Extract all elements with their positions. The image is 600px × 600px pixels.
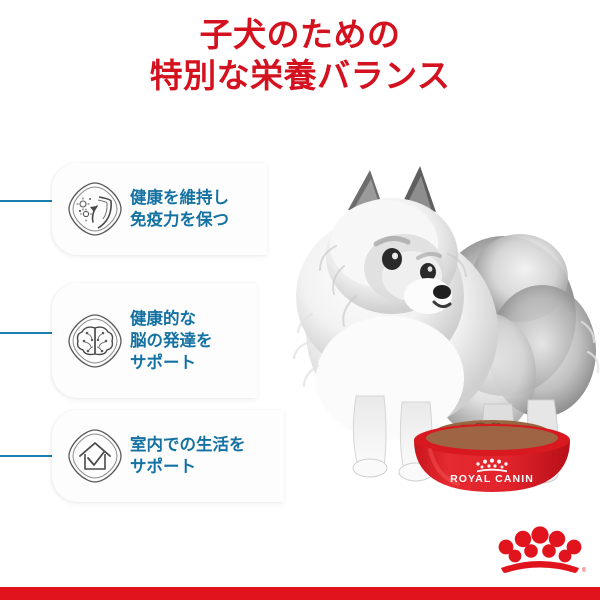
feature-2-line-1: 健康的な: [130, 308, 213, 330]
title-line-1: 子犬のための: [0, 14, 600, 55]
bottom-accent-bar: [0, 587, 600, 600]
feature-1-line-2: 免疫力を保つ: [130, 209, 229, 231]
feature-card-indoor[interactable]: 室内での生活を サポート: [52, 410, 284, 502]
page-title: 子犬のための 特別な栄養バランス: [0, 14, 600, 96]
connector-line-1: [0, 200, 54, 202]
food-bowl: ROYAL CANIN: [404, 414, 580, 500]
registered-mark: ®: [582, 567, 586, 574]
bowl-brand-label: ROYAL CANIN: [450, 473, 534, 485]
royal-canin-crown-icon: ®: [494, 519, 586, 575]
feature-2-line-2: 脳の発達を: [130, 330, 213, 352]
feature-2-line-3: サポート: [130, 352, 213, 374]
shield-immunity-icon: [66, 180, 124, 238]
feature-3-line-2: サポート: [130, 456, 246, 478]
brain-icon: [66, 312, 124, 370]
feature-3-line-1: 室内での生活を: [130, 434, 246, 456]
feature-label-immunity: 健康を維持し 免疫力を保つ: [130, 187, 229, 231]
feature-label-brain: 健康的な 脳の発達を サポート: [130, 308, 213, 374]
feature-card-brain[interactable]: 健康的な 脳の発達を サポート: [52, 283, 257, 398]
title-line-2: 特別な栄養バランス: [0, 55, 600, 96]
feature-card-immunity[interactable]: 健康を維持し 免疫力を保つ: [52, 163, 267, 255]
promo-banner: 子犬のための 特別な栄養バランス: [0, 0, 600, 600]
connector-line-2: [0, 332, 54, 334]
bowl-illustration: ROYAL CANIN: [404, 414, 580, 500]
feature-1-line-1: 健康を維持し: [130, 187, 229, 209]
connector-line-3: [0, 455, 54, 457]
feature-label-indoor: 室内での生活を サポート: [130, 434, 246, 478]
house-check-icon: [66, 427, 124, 485]
